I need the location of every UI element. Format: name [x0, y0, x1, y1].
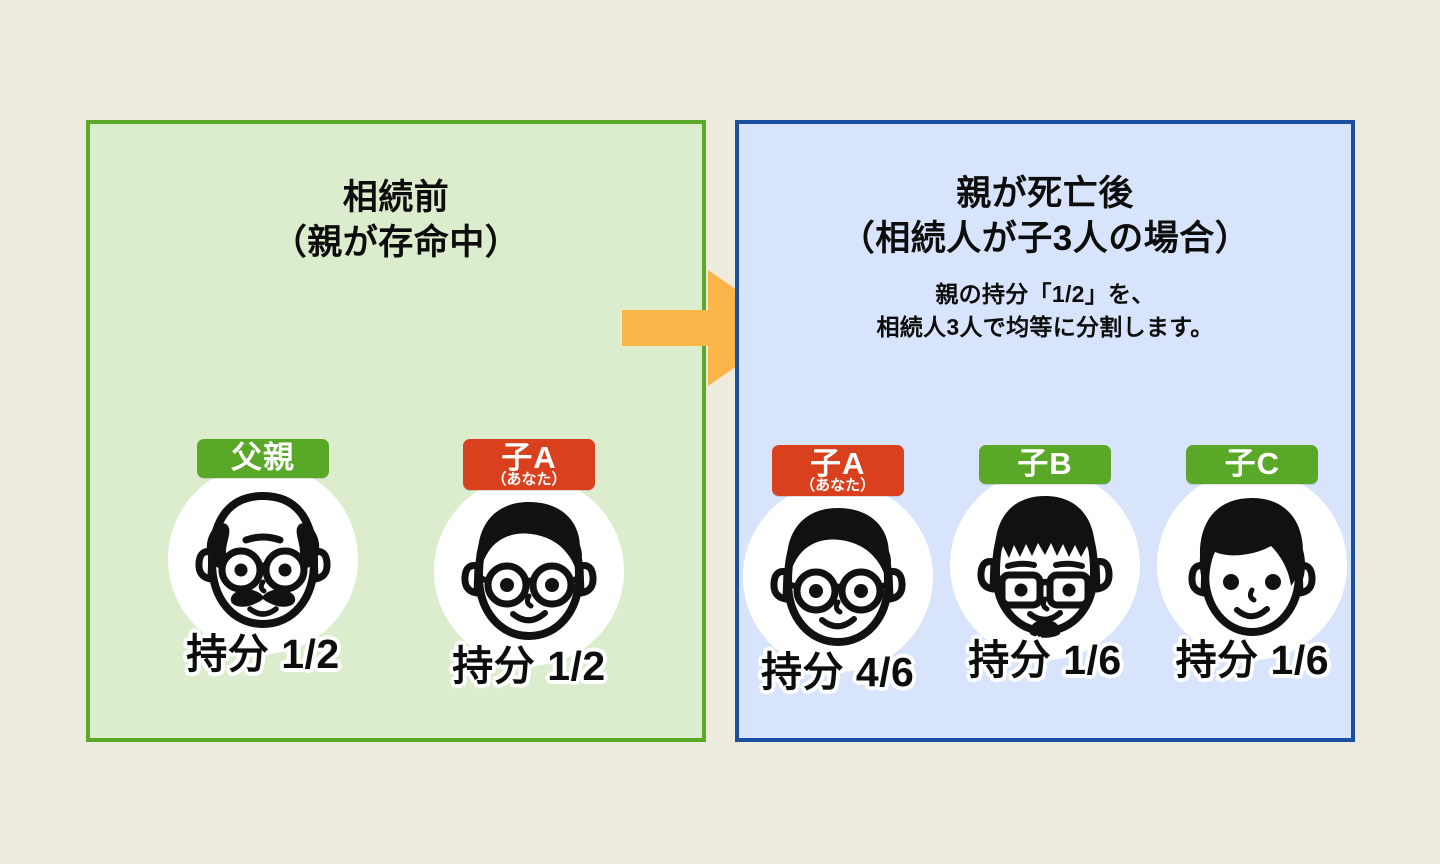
badge-child-a: 子A （あなた）: [463, 439, 595, 490]
people-row-before: 父親: [90, 439, 702, 692]
badge-child-c-label: 子C: [1206, 448, 1298, 479]
badge-child-a-after-ruby: （あなた）: [792, 478, 884, 493]
person-child-b: 子B: [946, 445, 1143, 698]
share-child-b: 持分 1/6: [968, 626, 1121, 686]
share-father: 持分 1/2: [186, 620, 339, 680]
person-father: 父親: [165, 439, 361, 692]
share-child-a-before: 持分 1/2: [452, 632, 605, 692]
badge-child-b: 子B: [979, 445, 1111, 484]
panel-after-title-line1: 親が死亡後: [956, 174, 1134, 213]
person-child-c: 子C: [1154, 445, 1351, 698]
badge-child-a-after-label: 子A: [792, 448, 884, 479]
avatar-child-a-before: [431, 476, 627, 626]
badge-child-a-ruby: （あなた）: [483, 472, 575, 487]
avatar-child-b: [947, 470, 1143, 620]
person-child-a-before: 子A （あなた）: [431, 439, 627, 692]
badge-child-c: 子C: [1186, 445, 1318, 484]
diagram-canvas: 相続前 （親が存命中） 父親: [0, 0, 1440, 864]
panel-before-title-line2: （親が存命中）: [90, 221, 702, 266]
avatar-child-c: [1154, 470, 1350, 620]
panel-after-title: 親が死亡後 （相続人が子3人の場合）: [739, 172, 1351, 262]
people-row-after: 子A （あなた）: [739, 445, 1351, 698]
badge-father: 父親: [197, 439, 329, 478]
badge-child-b-label: 子B: [999, 448, 1091, 479]
share-child-a-after: 持分 4/6: [761, 638, 914, 698]
badge-child-a-after: 子A （あなた）: [772, 445, 904, 496]
panel-before-inheritance: 相続前 （親が存命中） 父親: [86, 120, 706, 742]
badge-child-a-label: 子A: [483, 442, 575, 473]
panel-before-title: 相続前 （親が存命中）: [90, 176, 702, 266]
panel-before-title-line1: 相続前: [343, 178, 450, 217]
panel-after-subtitle-line1: 親の持分「1/2」を、: [739, 278, 1351, 311]
share-child-c: 持分 1/6: [1176, 626, 1329, 686]
panel-after-subtitle: 親の持分「1/2」を、 相続人3人で均等に分割します。: [739, 278, 1351, 345]
panel-after-inheritance: 親が死亡後 （相続人が子3人の場合） 親の持分「1/2」を、 相続人3人で均等に…: [735, 120, 1355, 742]
panel-after-title-line2: （相続人が子3人の場合）: [739, 217, 1351, 262]
panel-after-subtitle-line2: 相続人3人で均等に分割します。: [739, 311, 1351, 344]
badge-father-label: 父親: [217, 442, 309, 473]
avatar-child-a-after: [740, 482, 936, 632]
avatar-father: [165, 464, 361, 614]
person-child-a-after: 子A （あなた）: [739, 445, 936, 698]
